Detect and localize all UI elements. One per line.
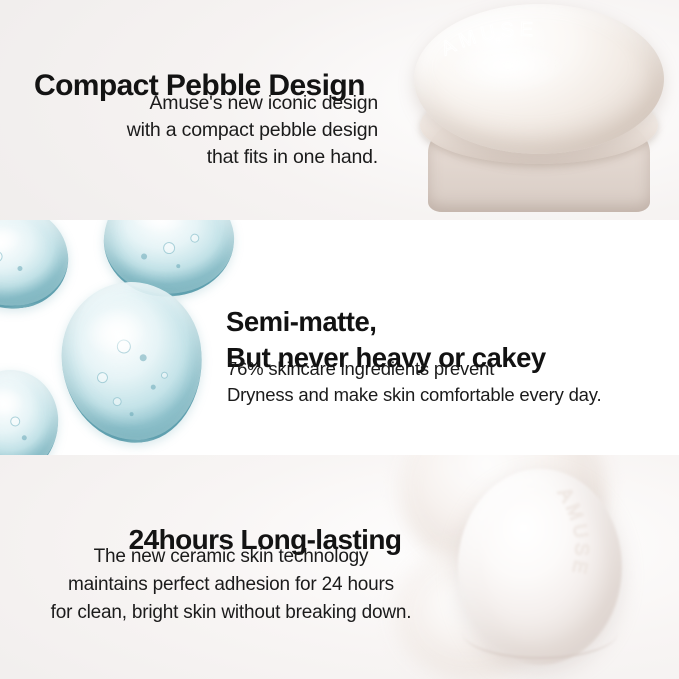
panel-1-body: Amuse's new iconic design with a compact… (36, 90, 378, 171)
panel-2-body: 76% skincare ingredients prevent Dryness… (227, 356, 601, 408)
lid-highlight (448, 38, 568, 94)
cushion-pebble-product-image: AMUSE (458, 469, 622, 665)
panel-3-body-line: The new ceramic skin technology (0, 543, 462, 571)
panel-2-body-line: 76% skincare ingredients prevent (227, 356, 601, 382)
svg-text:AMUSE: AMUSE (553, 484, 592, 579)
panel-2-body-line: Dryness and make skin comfortable every … (227, 382, 601, 408)
panel-semi-matte: Semi-matte, But never heavy or cakey 76%… (0, 220, 679, 455)
panel-compact-pebble-design: AMUSE Compact Pebble Design Amuse's new … (0, 0, 679, 220)
product-feature-infographic: AMUSE Compact Pebble Design Amuse's new … (0, 0, 679, 679)
panel-3-body-line: for clean, bright skin without breaking … (0, 599, 462, 627)
panel-1-body-line: with a compact pebble design (36, 117, 378, 144)
pebble-seam (462, 605, 618, 659)
panel-2-heading-line: Semi-matte, (226, 304, 546, 340)
panel-1-body-line: that fits in one hand. (36, 144, 378, 171)
compact-lid (414, 4, 664, 154)
amuse-brand-text: AMUSE (553, 484, 592, 579)
panel-1-body-line: Amuse's new iconic design (36, 90, 378, 117)
panel-3-body: The new ceramic skin technology maintain… (0, 543, 462, 627)
cushion-compact-product-image: AMUSE (402, 0, 678, 204)
panel-24hours-long-lasting: AMUSE 24hours Long-lasting The new ceram… (0, 455, 679, 679)
panel-3-body-line: maintains perfect adhesion for 24 hours (0, 571, 462, 599)
